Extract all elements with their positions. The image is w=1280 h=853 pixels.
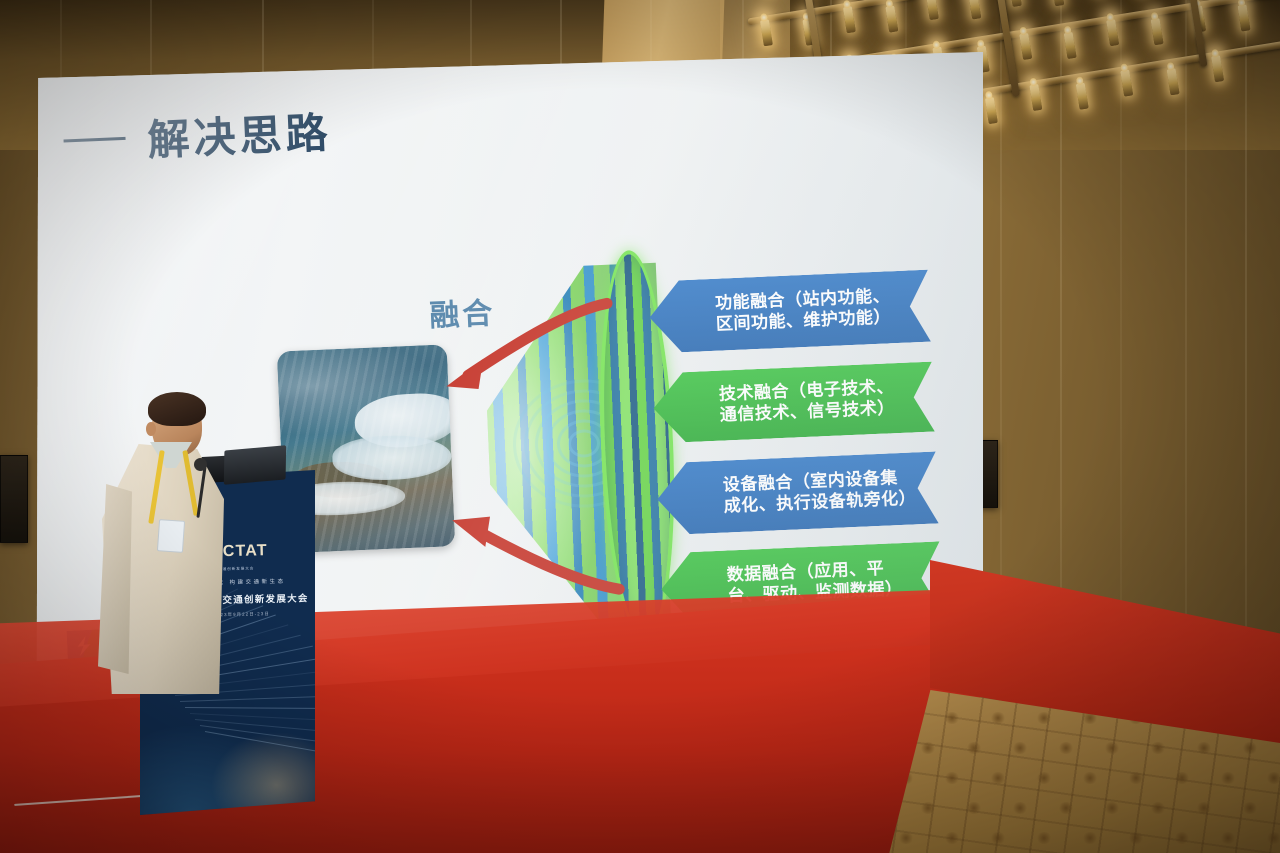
- carpet-motif: [1220, 772, 1236, 784]
- presenter-ear: [146, 422, 156, 436]
- carpet-motif: [1012, 802, 1028, 814]
- name-badge: [157, 519, 185, 553]
- carpet-motif: [1012, 742, 1028, 754]
- carpet-motif: [1150, 802, 1166, 814]
- carpet-motif: [1058, 802, 1074, 814]
- carpet-motif: [1036, 712, 1052, 724]
- carpet-motif: [1150, 742, 1166, 754]
- chandelier-bulb: [1237, 4, 1250, 31]
- carpet-motif: [966, 802, 982, 814]
- wall-speaker-left: [0, 455, 28, 543]
- carpet-motif: [1242, 742, 1258, 754]
- carpet-motif: [1036, 772, 1052, 784]
- carpet-motif: [1174, 832, 1190, 844]
- chandelier-bulb: [926, 0, 939, 20]
- chandelier-bulb: [1019, 33, 1032, 60]
- presenter-hair: [148, 392, 206, 426]
- chandelier-bulb: [1051, 0, 1064, 6]
- carpet-motif: [1058, 742, 1074, 754]
- chandelier-bulb: [1151, 18, 1164, 45]
- presenter: [96, 392, 228, 722]
- chandelier-crossbar: [986, 0, 1020, 97]
- carpet-motif: [1082, 772, 1098, 784]
- carpet-motif: [1196, 742, 1212, 754]
- chandelier-bulb: [968, 0, 981, 19]
- carpet-motif: [1266, 832, 1280, 844]
- carpet-motif: [944, 772, 960, 784]
- carpet-motif: [966, 742, 982, 754]
- carpet-motif: [1104, 742, 1120, 754]
- presenter-arm: [98, 484, 132, 674]
- chandelier-bulb: [843, 6, 856, 33]
- carpet-motif: [990, 832, 1006, 844]
- carpet-motif: [990, 772, 1006, 784]
- carpet-motif: [1196, 802, 1212, 814]
- carpet-motif: [1174, 772, 1190, 784]
- carpet-motif: [1128, 772, 1144, 784]
- chandelier-bulb: [1064, 32, 1077, 59]
- chandelier-bulb: [885, 5, 898, 32]
- carpet-motif: [1242, 802, 1258, 814]
- screenshot-root: 解决思路 融合: [0, 0, 1280, 853]
- chandelier-bulb: [1009, 0, 1022, 7]
- chandelier-bulb: [1029, 84, 1042, 111]
- carpet-motif: [1104, 802, 1120, 814]
- chandelier-bulb: [1211, 55, 1224, 82]
- carpet-motif: [1036, 832, 1052, 844]
- carpet-motif: [1266, 772, 1280, 784]
- carpet-motif: [1082, 832, 1098, 844]
- carpet-motif: [920, 802, 936, 814]
- microphone-head-icon: [194, 458, 207, 471]
- carpet-motif: [944, 712, 960, 724]
- carpet-motif: [944, 832, 960, 844]
- laptop-screen: [224, 445, 286, 485]
- carpet-motif: [1128, 832, 1144, 844]
- chandelier-bulb: [1106, 19, 1119, 46]
- carpet-motif: [920, 742, 936, 754]
- carpet-motif: [1220, 832, 1236, 844]
- carpet-motif: [898, 832, 914, 844]
- chandelier-bulb: [1120, 69, 1133, 96]
- carpet-motif: [990, 712, 1006, 724]
